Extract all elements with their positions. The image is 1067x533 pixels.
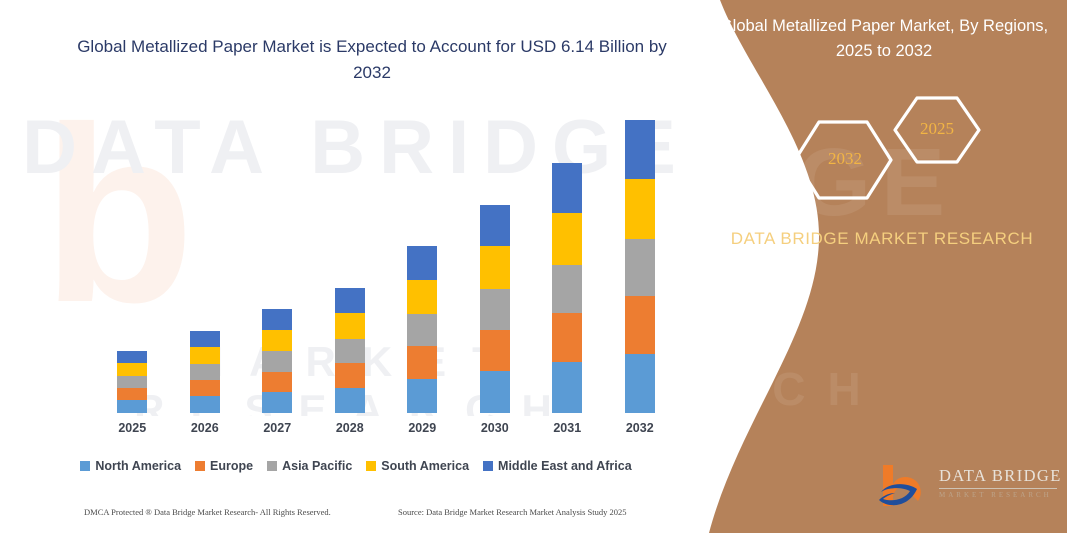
bar-column-2032[interactable] — [625, 120, 655, 413]
bar-segment — [190, 331, 220, 348]
bar-segment — [407, 280, 437, 314]
bar-column-2026[interactable] — [190, 331, 220, 414]
bar-segment — [407, 314, 437, 346]
bar-segment — [480, 246, 510, 289]
bar-segment — [117, 400, 147, 413]
chart-title: Global Metallized Paper Market is Expect… — [72, 34, 672, 86]
x-tick-2025: 2025 — [96, 421, 168, 435]
x-tick-2031: 2031 — [531, 421, 603, 435]
bar-segment — [335, 388, 365, 413]
legend-label: Europe — [210, 459, 253, 473]
logo-name: DATA BRIDGE — [939, 466, 1062, 486]
bar-segment — [262, 372, 292, 393]
bar-segment — [552, 313, 582, 363]
x-tick-2032: 2032 — [604, 421, 676, 435]
legend-swatch-icon — [366, 461, 376, 471]
x-tick-2029: 2029 — [386, 421, 458, 435]
bar-segment — [335, 288, 365, 313]
bar-segment — [117, 363, 147, 376]
x-tick-2028: 2028 — [314, 421, 386, 435]
legend-label: South America — [381, 459, 469, 473]
legend-item[interactable]: Europe — [195, 459, 253, 473]
bar-segment — [552, 163, 582, 214]
bar-segment — [480, 371, 510, 413]
legend-swatch-icon — [80, 461, 90, 471]
bar-segment — [552, 362, 582, 413]
panel-title: Global Metallized Paper Market, By Regio… — [719, 14, 1049, 64]
bar-segment — [117, 376, 147, 388]
bar-segment — [407, 346, 437, 379]
logo-divider — [939, 488, 1057, 489]
footer-source: Source: Data Bridge Market Research Mark… — [398, 507, 627, 517]
bar-column-2027[interactable] — [262, 309, 292, 413]
bar-segment — [335, 363, 365, 388]
data-bridge-logo: DATA BRIDGE MARKET RESEARCH — [877, 462, 1067, 517]
bar-segment — [190, 380, 220, 396]
legend-label: Middle East and Africa — [498, 459, 632, 473]
bar-chart-plot-area — [96, 120, 676, 413]
bar-segment — [407, 246, 437, 280]
bar-segment — [262, 392, 292, 413]
bar-segment — [262, 351, 292, 371]
x-tick-2027: 2027 — [241, 421, 313, 435]
bar-segment — [117, 351, 147, 363]
legend-swatch-icon — [267, 461, 277, 471]
bar-segment — [262, 309, 292, 330]
legend-item[interactable]: North America — [80, 459, 181, 473]
logo-mark-icon — [877, 462, 935, 514]
hexagon-group: 2032 2025 — [787, 92, 1017, 207]
bar-column-2025[interactable] — [117, 351, 147, 413]
x-tick-2026: 2026 — [169, 421, 241, 435]
legend-item[interactable]: South America — [366, 459, 469, 473]
bar-segment — [480, 205, 510, 247]
legend-item[interactable]: Middle East and Africa — [483, 459, 632, 473]
infographic-canvas: b DATA BRIDGE MARKET RESEARCH Global Met… — [0, 0, 1067, 533]
bar-segment — [625, 179, 655, 240]
bar-column-2030[interactable] — [480, 205, 510, 414]
logo-wordmark: DATA BRIDGE MARKET RESEARCH — [939, 466, 1062, 499]
bar-segment — [480, 289, 510, 329]
x-axis-tick-labels: 20252026202720282029203020312032 — [96, 421, 676, 443]
bar-segment — [335, 339, 365, 363]
x-tick-2030: 2030 — [459, 421, 531, 435]
bar-segment — [625, 354, 655, 413]
bar-segment — [190, 396, 220, 413]
logo-tagline: MARKET RESEARCH — [939, 491, 1062, 499]
bar-segment — [117, 388, 147, 400]
footer-copyright: DMCA Protected ® Data Bridge Market Rese… — [84, 507, 331, 517]
legend-item[interactable]: Asia Pacific — [267, 459, 352, 473]
panel-content: Global Metallized Paper Market, By Regio… — [687, 0, 1067, 533]
bar-segment — [552, 213, 582, 265]
chart-legend: North AmericaEuropeAsia PacificSouth Ame… — [0, 454, 712, 478]
bar-column-2029[interactable] — [407, 246, 437, 413]
right-brand-panel: DGE RCH Global Metallized Paper Market, … — [687, 0, 1067, 533]
legend-label: Asia Pacific — [282, 459, 352, 473]
hexagon-2032-label: 2032 — [821, 149, 869, 169]
bar-segment — [552, 265, 582, 313]
legend-label: North America — [95, 459, 181, 473]
legend-swatch-icon — [195, 461, 205, 471]
bar-segment — [190, 364, 220, 380]
bar-segment — [625, 296, 655, 354]
bar-segment — [407, 379, 437, 413]
bar-segment — [480, 330, 510, 372]
bar-segment — [625, 239, 655, 295]
hexagon-2025-label: 2025 — [915, 119, 959, 139]
bar-column-2028[interactable] — [335, 288, 365, 413]
footer: DMCA Protected ® Data Bridge Market Rese… — [0, 505, 712, 527]
bar-column-2031[interactable] — [552, 163, 582, 414]
bar-segment — [625, 120, 655, 179]
bar-segment — [335, 313, 365, 339]
bar-segment — [262, 330, 292, 351]
bar-segment — [190, 347, 220, 364]
legend-swatch-icon — [483, 461, 493, 471]
panel-brand-name: DATA BRIDGE MARKET RESEARCH — [717, 225, 1047, 252]
